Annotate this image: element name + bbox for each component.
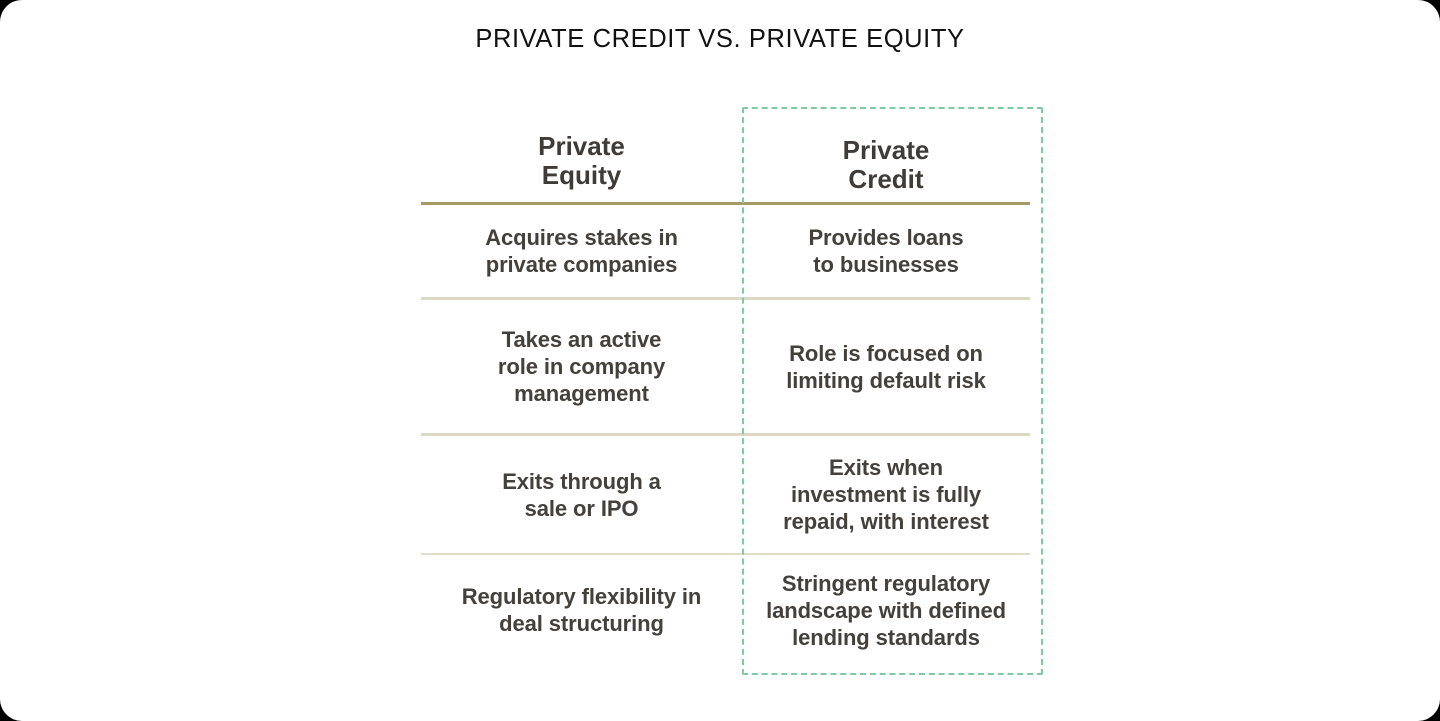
table-row: Acquires stakes in private companies Pro… (421, 205, 1030, 297)
cell-text-line: investment is fully (783, 481, 989, 508)
cell-private-credit-3: Exits when investment is fully repaid, w… (742, 436, 1030, 553)
cell-text-line: Provides loans (808, 224, 963, 251)
cell-text-line: private companies (485, 251, 678, 278)
column-header-private-equity-line-1: Private (538, 132, 625, 161)
content-card: PRIVATE CREDIT VS. PRIVATE EQUITY Privat… (0, 0, 1440, 721)
cell-text-line: Role is focused on (786, 340, 986, 367)
column-header-private-credit-line-1: Private (843, 136, 930, 165)
cell-text-line: sale or IPO (502, 495, 661, 522)
cell-text-line: repaid, with interest (783, 508, 989, 535)
cell-text-line: management (498, 380, 665, 407)
comparison-table: Private Equity Private Credit Acquires s… (421, 107, 1030, 665)
table-header-row: Private Equity Private Credit (421, 107, 1030, 202)
cell-text-line: Exits when (783, 454, 989, 481)
page-title: PRIVATE CREDIT VS. PRIVATE EQUITY (0, 24, 1440, 54)
cell-text-line: limiting default risk (786, 367, 986, 394)
table-row: Exits through a sale or IPO Exits when i… (421, 436, 1030, 553)
table-row: Takes an active role in company manageme… (421, 300, 1030, 433)
cell-text-line: Acquires stakes in (485, 224, 678, 251)
cell-text-line: Exits through a (502, 468, 661, 495)
cell-text-line: Stringent regulatory (766, 570, 1006, 597)
cell-text-line: Regulatory flexibility in (462, 583, 702, 610)
cell-private-equity-3: Exits through a sale or IPO (421, 436, 742, 553)
cell-text-line: landscape with defined (766, 597, 1006, 624)
column-header-private-equity-line-2: Equity (538, 161, 625, 190)
screenshot-canvas: PRIVATE CREDIT VS. PRIVATE EQUITY Privat… (0, 0, 1440, 721)
cell-text-line: Takes an active (498, 326, 665, 353)
cell-private-equity-1: Acquires stakes in private companies (421, 205, 742, 297)
cell-text-line: lending standards (766, 624, 1006, 651)
column-header-private-equity: Private Equity (421, 107, 742, 202)
table-row: Regulatory flexibility in deal structuri… (421, 555, 1030, 665)
column-header-private-credit-line-2: Credit (843, 165, 930, 194)
cell-private-equity-2: Takes an active role in company manageme… (421, 300, 742, 433)
cell-private-credit-2: Role is focused on limiting default risk (742, 300, 1030, 433)
cell-private-equity-4: Regulatory flexibility in deal structuri… (421, 555, 742, 665)
cell-text-line: deal structuring (462, 610, 702, 637)
cell-text-line: role in company (498, 353, 665, 380)
column-header-private-credit: Private Credit (742, 107, 1030, 202)
cell-text-line: to businesses (808, 251, 963, 278)
cell-private-credit-4: Stringent regulatory landscape with defi… (742, 555, 1030, 665)
cell-private-credit-1: Provides loans to businesses (742, 205, 1030, 297)
